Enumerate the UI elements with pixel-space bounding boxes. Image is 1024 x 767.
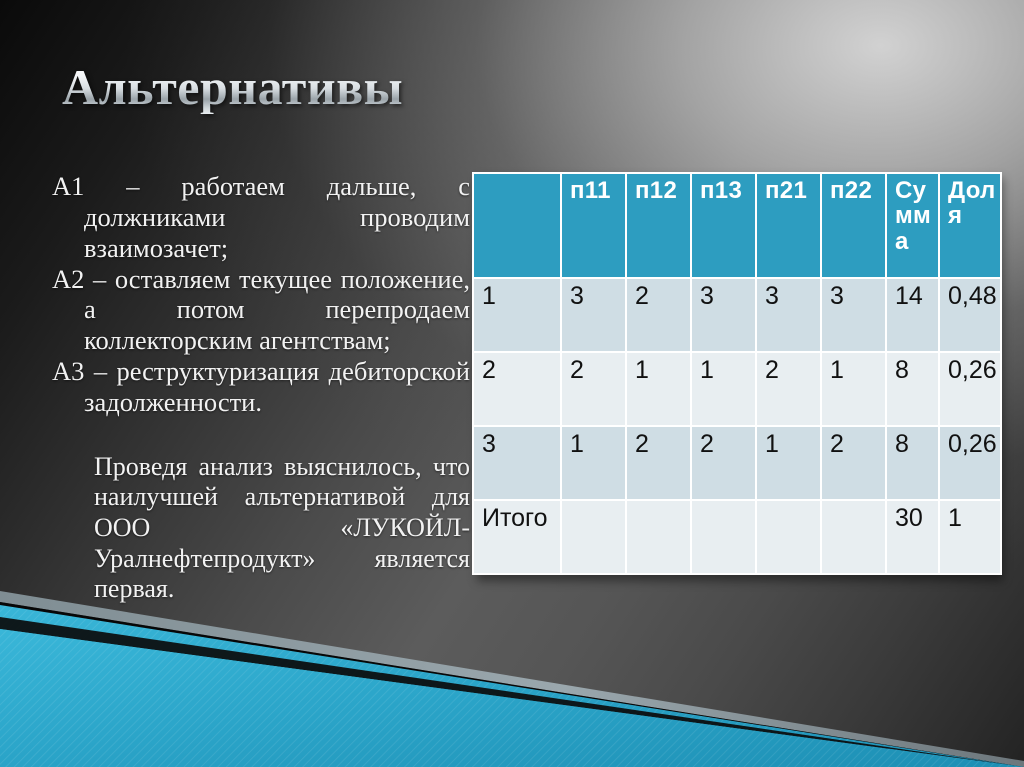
table-header-cell-blank — [473, 173, 561, 278]
table-cell: 3 — [473, 426, 561, 500]
table-cell: 3 — [821, 278, 886, 352]
table-cell: 1 — [756, 426, 821, 500]
table-cell: 1 — [626, 352, 691, 426]
table-header: п11 п12 п13 п21 п22 Сумма Доля — [473, 173, 1001, 278]
table-cell: 2 — [473, 352, 561, 426]
alternative-paragraph-a1: А1 – работаем дальше, с должниками прово… — [52, 171, 470, 264]
criteria-table: п11 п12 п13 п21 п22 Сумма Доля 1 3 2 3 3… — [472, 172, 1002, 575]
alternative-paragraph-a2: А2 – оставляем текущее положение, а пото… — [52, 264, 470, 357]
table-cell: 2 — [626, 278, 691, 352]
table-cell: 3 — [756, 278, 821, 352]
table-cell — [626, 500, 691, 574]
table-cell: 0,26 — [939, 426, 1001, 500]
table-header-cell-p11: п11 — [561, 173, 626, 278]
table-cell: 1 — [473, 278, 561, 352]
table-cell: 1 — [691, 352, 756, 426]
table-cell: 2 — [626, 426, 691, 500]
table-cell: 30 — [886, 500, 939, 574]
table-cell: 1 — [561, 426, 626, 500]
table-cell: 0,26 — [939, 352, 1001, 426]
paragraph-spacer — [52, 418, 470, 452]
table-cell — [561, 500, 626, 574]
criteria-table-container: п11 п12 п13 п21 п22 Сумма Доля 1 3 2 3 3… — [472, 172, 998, 575]
content-text-column: А1 – работаем дальше, с должниками прово… — [52, 171, 470, 605]
slide-root: Альтернативы А1 – работаем дальше, с дол… — [0, 0, 1024, 767]
table-cell: 3 — [691, 278, 756, 352]
table-cell: 2 — [561, 352, 626, 426]
table-body: 1 3 2 3 3 3 14 0,48 2 2 1 1 2 1 8 — [473, 278, 1001, 574]
table-cell: 8 — [886, 426, 939, 500]
table-cell: 2 — [691, 426, 756, 500]
table-header-cell-dolya: Доля — [939, 173, 1001, 278]
table-header-cell-p22: п22 — [821, 173, 886, 278]
table-cell: 8 — [886, 352, 939, 426]
table-header-cell-p21: п21 — [756, 173, 821, 278]
table-cell: 3 — [561, 278, 626, 352]
table-cell: 1 — [939, 500, 1001, 574]
table-cell: 2 — [756, 352, 821, 426]
conclusion-paragraph: Проведя анализ выяснилось, что наилучшей… — [52, 452, 470, 605]
table-header-row: п11 п12 п13 п21 п22 Сумма Доля — [473, 173, 1001, 278]
alternative-paragraph-a3: А3 – реструктуризация дебиторской задолж… — [52, 356, 470, 418]
table-row: 3 1 2 2 1 2 8 0,26 — [473, 426, 1001, 500]
table-header-cell-p13: п13 — [691, 173, 756, 278]
table-header-cell-summa: Сумма — [886, 173, 939, 278]
table-cell — [821, 500, 886, 574]
table-cell — [691, 500, 756, 574]
table-cell: 2 — [821, 426, 886, 500]
page-title: Альтернативы — [62, 61, 403, 114]
table-cell: 14 — [886, 278, 939, 352]
table-row: 1 3 2 3 3 3 14 0,48 — [473, 278, 1001, 352]
table-total-row: Итого 30 1 — [473, 500, 1001, 574]
table-cell: 0,48 — [939, 278, 1001, 352]
table-cell: 1 — [821, 352, 886, 426]
decorative-corner-graphic — [0, 577, 1024, 767]
table-header-cell-p12: п12 — [626, 173, 691, 278]
table-row: 2 2 1 1 2 1 8 0,26 — [473, 352, 1001, 426]
table-cell-total-label: Итого — [473, 500, 561, 574]
table-cell — [756, 500, 821, 574]
